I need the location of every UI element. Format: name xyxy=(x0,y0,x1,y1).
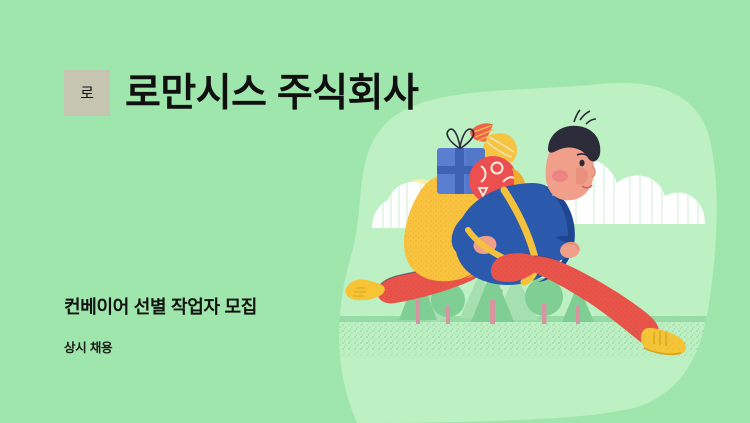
brand-row: 로 로만시스 주식회사 xyxy=(64,70,418,116)
company-name: 로만시스 주식회사 xyxy=(125,74,418,113)
text-layer: 로 로만시스 주식회사 컨베이어 선별 작업자 모집 상시 채용 xyxy=(0,0,750,423)
job-title: 컨베이어 선별 작업자 모집 xyxy=(64,297,257,319)
company-logo-badge-text: 로 xyxy=(80,86,94,101)
company-logo-badge: 로 xyxy=(64,70,110,116)
job-posting-poster: 로 로만시스 주식회사 컨베이어 선별 작업자 모집 상시 채용 xyxy=(0,0,750,423)
job-subtitle: 상시 채용 xyxy=(64,341,112,356)
